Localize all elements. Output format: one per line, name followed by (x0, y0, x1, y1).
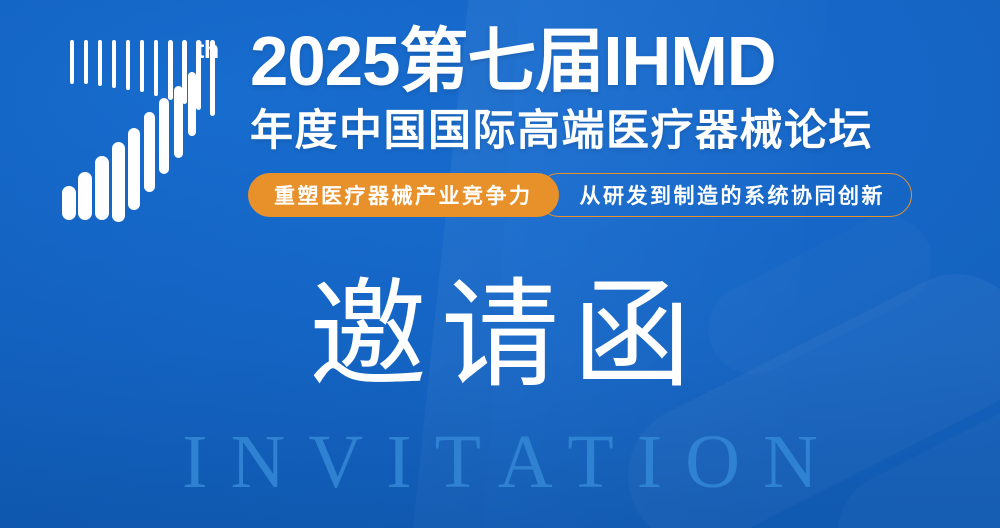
seven-logo-diagonal-bar (144, 112, 155, 192)
seven-logo-top-bar (126, 40, 130, 90)
seven-logo-top-bar (84, 40, 88, 84)
seven-logo-diagonal-bar (159, 98, 169, 174)
invitation-headline-en: INVITATION (0, 424, 1000, 500)
seven-logo-diagonal-bar (112, 142, 125, 222)
ordinal-suffix-label: th (196, 38, 219, 63)
seven-logo-diagonal-bar (62, 186, 76, 220)
seven-logo-diagonal-bar (174, 86, 183, 158)
seven-logo-top-bar (168, 40, 173, 100)
seven-logo-top-bar (154, 40, 158, 96)
tagline-group: 重塑医疗器械产业竞争力 从研发到制造的系统协同创新 (248, 173, 912, 217)
tagline-pill-secondary: 从研发到制造的系统协同创新 (537, 173, 913, 217)
seven-logo-diagonal-bar (188, 72, 196, 136)
page-title: 2025第七届IHMD (250, 26, 776, 96)
seven-logo-top-bar (70, 40, 74, 84)
seven-logo-top-bar (98, 40, 102, 86)
page-subtitle: 年度中国国际高端医疗器械论坛 (250, 110, 873, 153)
seven-logo-top-bar (140, 40, 144, 92)
seven-logo-diagonal-bar (95, 156, 109, 220)
tagline-pill-primary: 重塑医疗器械产业竞争力 (248, 173, 559, 217)
seven-logo-diagonal-bar (78, 172, 92, 220)
poster-header: th 2025第七届IHMD 年度中国国际高端医疗器械论坛 重塑医疗器械产业竞争… (0, 0, 1000, 228)
seven-logo-diagonal-bar (128, 128, 140, 210)
invitation-poster: th 2025第七届IHMD 年度中国国际高端医疗器械论坛 重塑医疗器械产业竞争… (0, 0, 1000, 528)
seven-logo-top-bar (112, 40, 116, 88)
invitation-headline-cn: 邀请函 (0, 276, 1000, 394)
